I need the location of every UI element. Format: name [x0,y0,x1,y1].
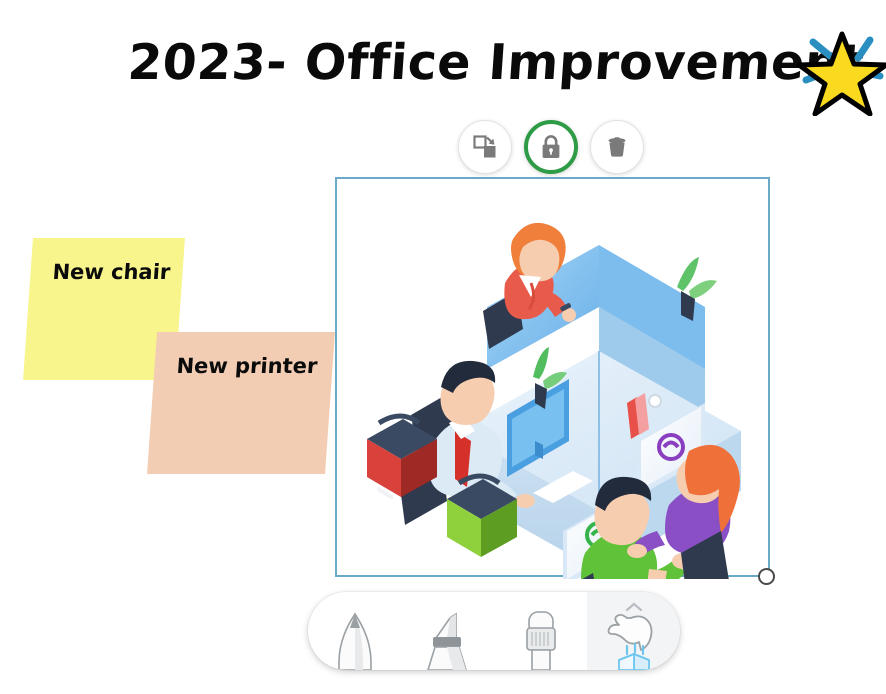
lock-button[interactable] [524,120,578,174]
sticky-note-text: New chair [52,260,166,284]
whiteboard-canvas[interactable]: 2023- Office Improvement New chair New p… [0,0,886,694]
eraser-icon [517,608,565,670]
marker-tool[interactable] [401,592,494,670]
star-sticker-icon [796,28,886,116]
sticky-note-text: New printer [176,354,316,378]
duplicate-icon [472,134,498,160]
select-tool[interactable] [587,592,680,670]
resize-handle-bottom-right[interactable] [758,568,775,585]
image-selection-frame[interactable] [335,177,770,577]
page-title: 2023- Office Improvement [126,34,866,91]
delete-button[interactable] [590,120,644,174]
lock-icon [540,134,562,160]
eraser-tool[interactable] [494,592,587,670]
office-illustration[interactable] [337,179,772,579]
pen-tool[interactable] [308,592,401,670]
sticky-note-new-printer[interactable]: New printer [147,332,335,474]
object-action-toolbar [458,120,644,174]
pen-tip-icon [329,608,381,670]
duplicate-button[interactable] [458,120,512,174]
trash-icon [604,134,630,160]
pen-tray [308,592,680,670]
marker-tip-icon [420,608,476,670]
hand-select-icon [603,600,665,670]
